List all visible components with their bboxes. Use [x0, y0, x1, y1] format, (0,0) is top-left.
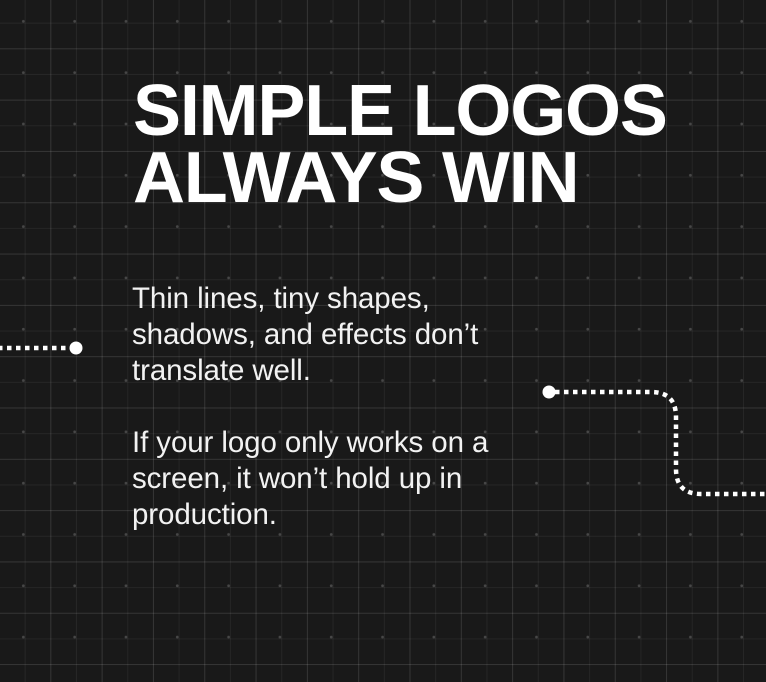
page-title: SIMPLE LOGOS ALWAYS WIN — [133, 78, 667, 212]
body-paragraph-2: If your logo only works on a screen, it … — [132, 425, 552, 533]
body-text-block: Thin lines, tiny shapes, shadows, and ef… — [132, 281, 552, 533]
slide-canvas: SIMPLE LOGOS ALWAYS WIN Thin lines, tiny… — [0, 0, 766, 682]
body-paragraph-1: Thin lines, tiny shapes, shadows, and ef… — [132, 281, 552, 389]
dotted-line-left-connector — [0, 330, 110, 370]
endpoint-dot-left — [70, 342, 83, 355]
content-column: SIMPLE LOGOS ALWAYS WIN Thin lines, tiny… — [133, 0, 733, 682]
